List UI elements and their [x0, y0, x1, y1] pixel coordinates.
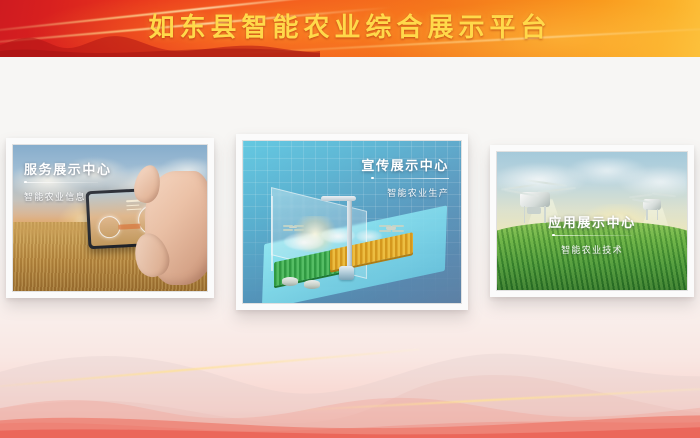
glass-panel-edge: [271, 196, 273, 271]
header-banner: 如东县智能农业综合展示平台: [0, 0, 700, 57]
water-tank: [339, 266, 354, 280]
card-promotion-display-center[interactable]: 宣传展示中心 智能农业生产: [236, 134, 468, 310]
hay-bale-1: [282, 277, 298, 286]
drone-left-icon: [282, 222, 304, 232]
hud-panel: [118, 224, 140, 230]
card-application-display-center[interactable]: 应用展示中心 智能农业技术: [490, 145, 694, 297]
hay-bale-2: [304, 280, 320, 289]
card-subtitle: 智能农业生产: [361, 186, 449, 199]
page-root: 如东县智能农业综合展示平台: [0, 0, 700, 438]
card-text-block: 服务展示中心 智能农业信息: [24, 159, 112, 203]
background-hill-foreground: [0, 398, 700, 438]
card-inner: 宣传展示中心 智能农业生产: [242, 140, 462, 304]
card-inner: 应用展示中心 智能农业技术: [496, 151, 688, 291]
hud-bar-2: [126, 204, 139, 206]
drone-right-icon: [378, 222, 404, 234]
card-divider: [371, 177, 449, 181]
card-divider: [552, 234, 632, 238]
hud-bar-3: [126, 208, 142, 210]
hud-ring-left-icon: [98, 215, 121, 238]
card-title: 宣传展示中心: [361, 155, 449, 174]
page-title: 如东县智能农业综合展示平台: [0, 8, 700, 48]
card-title: 服务展示中心: [24, 159, 112, 178]
card-service-display-center[interactable]: 服务展示中心 智能农业信息: [6, 138, 214, 298]
card-title: 应用展示中心: [497, 212, 687, 231]
card-subtitle: 智能农业信息: [24, 190, 112, 203]
card-divider: [24, 181, 98, 185]
lamp-pole: [347, 199, 352, 274]
card-subtitle: 智能农业技术: [497, 243, 687, 256]
lamp-arm: [321, 196, 356, 201]
card-text-block: 宣传展示中心 智能农业生产: [361, 155, 449, 199]
card-text-block: 应用展示中心 智能农业技术: [497, 212, 687, 256]
card-inner: 服务展示中心 智能农业信息: [12, 144, 208, 292]
